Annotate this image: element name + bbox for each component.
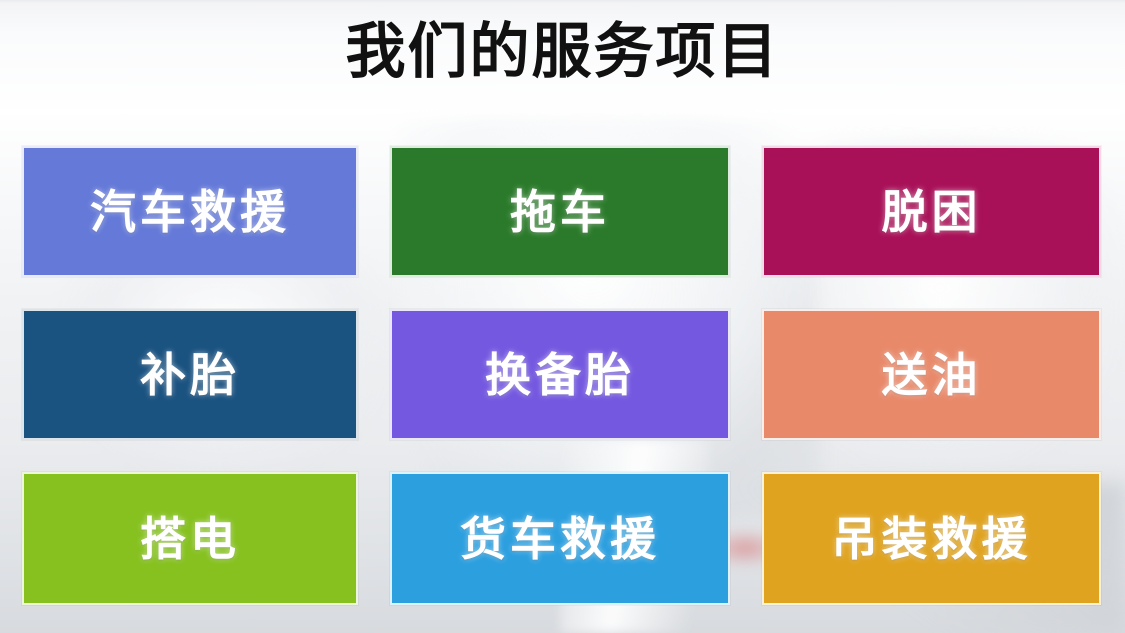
service-tile-label: 货车救援 (460, 516, 660, 562)
service-tile-crane-lifting-rescue[interactable]: 吊装救援 (762, 472, 1101, 605)
page-title: 我们的服务项目 (0, 20, 1125, 83)
service-grid: 汽车救援 拖车 脱困 补胎 换备胎 送油 搭电 货车救援 吊装救援 (22, 146, 1102, 605)
service-tile-label: 汽车救援 (90, 189, 290, 235)
background-top-edge (0, 0, 1125, 4)
service-tile-label: 脱困 (882, 189, 982, 235)
service-tile-extrication[interactable]: 脱困 (762, 146, 1101, 277)
service-tile-spare-tire-change[interactable]: 换备胎 (390, 309, 730, 440)
service-tile-fuel-delivery[interactable]: 送油 (762, 309, 1101, 440)
service-tile-label: 拖车 (510, 189, 610, 235)
service-tile-label: 补胎 (140, 352, 240, 398)
service-tile-truck-rescue[interactable]: 货车救援 (390, 472, 730, 605)
service-tile-label: 送油 (882, 352, 982, 398)
service-tile-label: 换备胎 (485, 352, 635, 398)
service-tile-towing[interactable]: 拖车 (390, 146, 730, 277)
service-tile-label: 搭电 (140, 516, 240, 562)
service-items-poster: 我们的服务项目 汽车救援 拖车 脱困 补胎 换备胎 送油 搭电 货车救援 吊装救… (0, 0, 1125, 633)
service-tile-jump-start[interactable]: 搭电 (22, 472, 358, 605)
service-tile-label: 吊装救援 (832, 516, 1032, 562)
service-tile-car-rescue[interactable]: 汽车救援 (22, 146, 358, 277)
service-tile-tire-repair[interactable]: 补胎 (22, 309, 358, 440)
